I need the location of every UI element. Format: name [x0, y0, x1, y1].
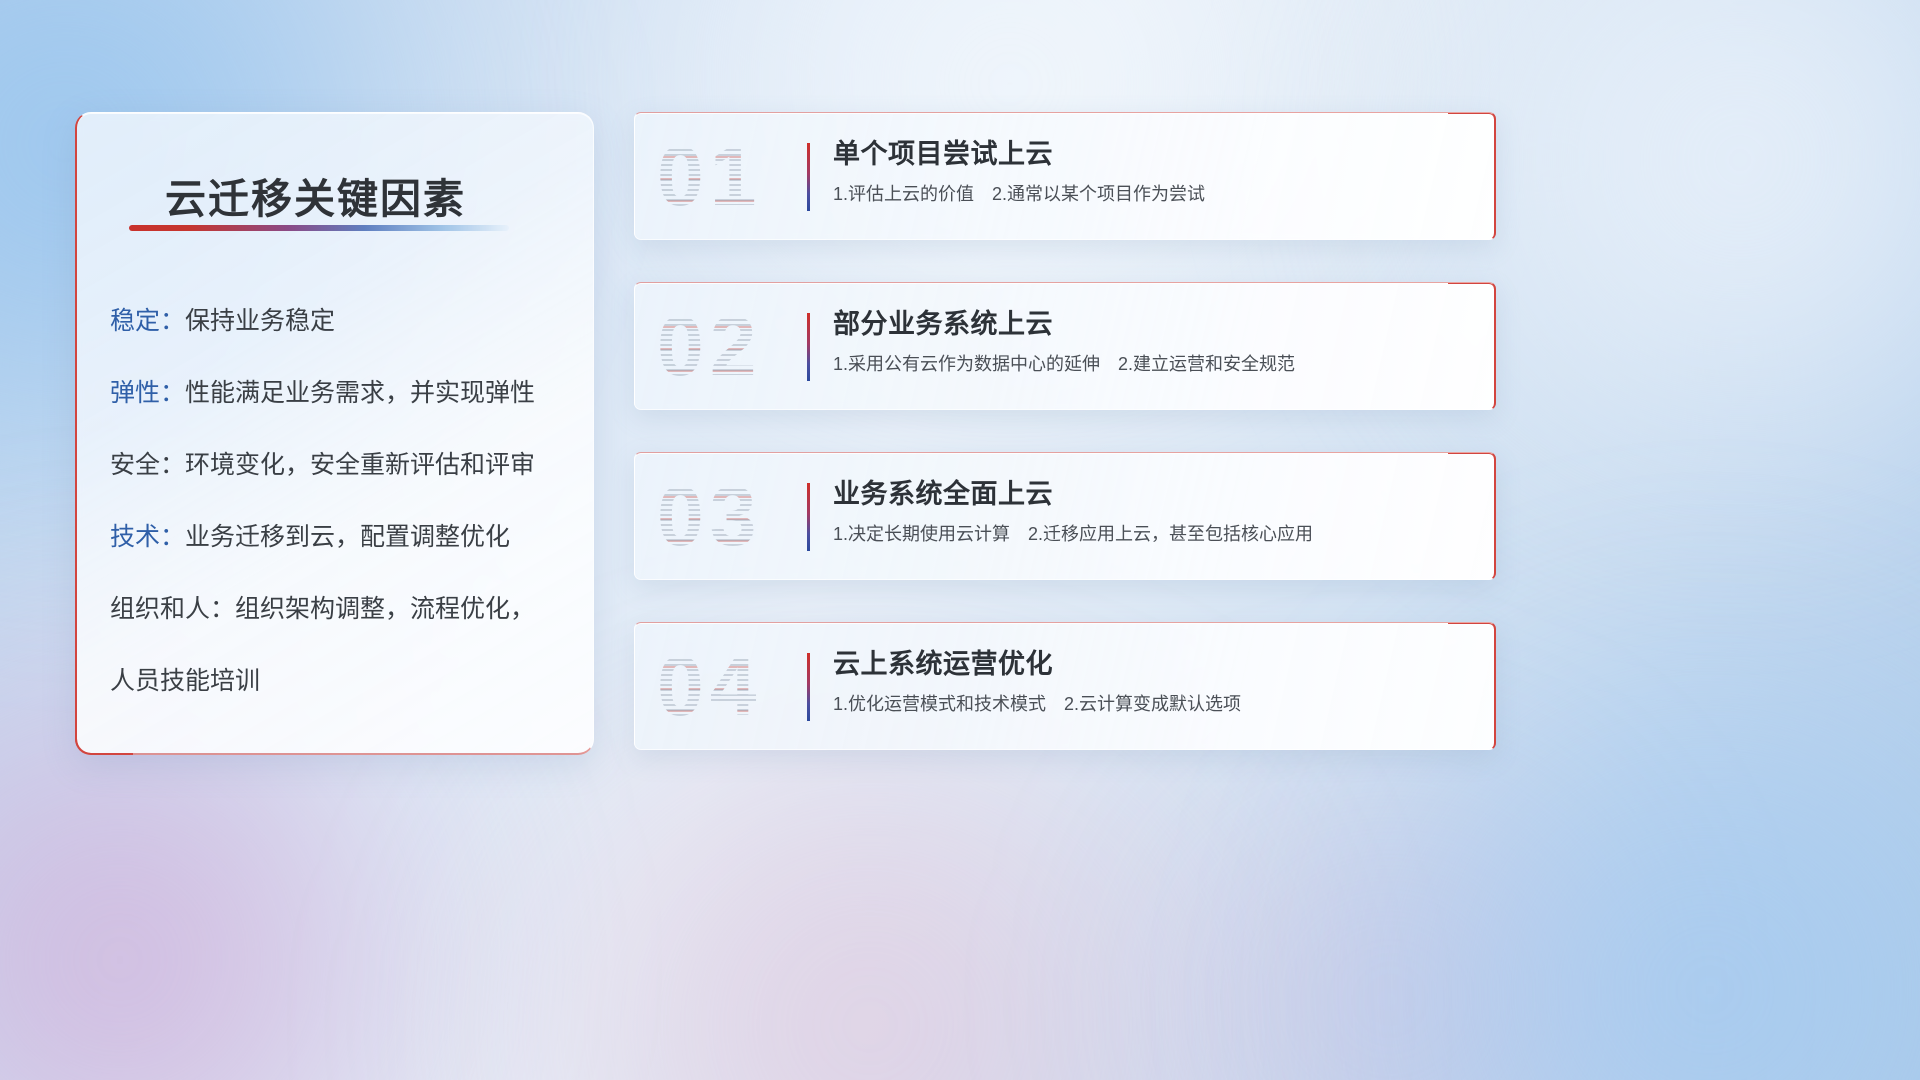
stage-card-01[interactable]: 01 01 单个项目尝试上云 1.评估上云的价值 2.通常以某个项目作为尝试: [634, 112, 1496, 240]
factor-text: 环境变化，安全重新评估和评审: [185, 453, 535, 478]
stage-title: 单个项目尝试上云: [833, 139, 1476, 171]
migration-stages-list: 01 01 单个项目尝试上云 1.评估上云的价值 2.通常以某个项目作为尝试 0…: [634, 112, 1496, 750]
stage-number-ghost: 02: [657, 304, 762, 388]
list-item: 弹性： 性能满足业务需求，并实现弹性: [110, 381, 573, 406]
list-item: 技术： 业务迁移到云，配置调整优化: [110, 525, 573, 550]
stage-description: 1.决定长期使用云计算 2.迁移应用上云，甚至包括核心应用: [833, 523, 1476, 546]
factor-label: 稳定：: [110, 309, 185, 334]
stage-number-ghost: 04: [657, 644, 762, 728]
key-factors-list: 稳定： 保持业务稳定 弹性： 性能满足业务需求，并实现弹性 安全： 环境变化，安…: [110, 309, 573, 694]
factor-label: 组织和人：: [110, 597, 235, 622]
list-item: 稳定： 保持业务稳定: [110, 309, 573, 334]
stage-card-04[interactable]: 04 04 云上系统运营优化 1.优化运营模式和技术模式 2.云计算变成默认选项: [634, 622, 1496, 750]
stage-title: 部分业务系统上云: [833, 309, 1476, 341]
stage-number-ghost: 03: [657, 474, 762, 558]
list-item-continuation: 人员技能培训: [110, 669, 573, 694]
list-item: 安全： 环境变化，安全重新评估和评审: [110, 453, 573, 478]
key-factors-panel: 云迁移关键因素 稳定： 保持业务稳定 弹性： 性能满足业务需求，并实现弹性 安全…: [75, 112, 594, 755]
factor-text: 性能满足业务需求，并实现弹性: [185, 381, 535, 406]
list-item: 组织和人： 组织架构调整，流程优化，: [110, 597, 573, 622]
stage-card-body: 业务系统全面上云 1.决定长期使用云计算 2.迁移应用上云，甚至包括核心应用: [833, 479, 1476, 546]
stage-card-body: 云上系统运营优化 1.优化运营模式和技术模式 2.云计算变成默认选项: [833, 649, 1476, 716]
stage-description: 1.优化运营模式和技术模式 2.云计算变成默认选项: [833, 693, 1476, 716]
stage-description: 1.评估上云的价值 2.通常以某个项目作为尝试: [833, 183, 1476, 206]
stage-title: 业务系统全面上云: [833, 479, 1476, 511]
stage-title: 云上系统运营优化: [833, 649, 1476, 681]
accent-bar-icon: [807, 313, 810, 381]
stage-card-03[interactable]: 03 03 业务系统全面上云 1.决定长期使用云计算 2.迁移应用上云，甚至包括…: [634, 452, 1496, 580]
title-underline-rule: [129, 225, 509, 231]
factor-text: 组织架构调整，流程优化，: [235, 597, 535, 622]
factor-label: 技术：: [110, 525, 185, 550]
accent-bar-icon: [807, 143, 810, 211]
accent-bar-icon: [807, 653, 810, 721]
slide-stage: 云迁移关键因素 稳定： 保持业务稳定 弹性： 性能满足业务需求，并实现弹性 安全…: [0, 0, 1920, 1080]
factor-text: 业务迁移到云，配置调整优化: [185, 525, 510, 550]
stage-card-02[interactable]: 02 02 部分业务系统上云 1.采用公有云作为数据中心的延伸 2.建立运营和安…: [634, 282, 1496, 410]
stage-card-body: 单个项目尝试上云 1.评估上云的价值 2.通常以某个项目作为尝试: [833, 139, 1476, 206]
page-title: 云迁移关键因素: [165, 165, 466, 225]
stage-number-ghost: 01: [657, 134, 762, 218]
stage-description: 1.采用公有云作为数据中心的延伸 2.建立运营和安全规范: [833, 353, 1476, 376]
factor-label: 安全：: [110, 453, 185, 478]
factor-text: 人员技能培训: [110, 669, 260, 694]
factor-text: 保持业务稳定: [185, 309, 335, 334]
stage-card-body: 部分业务系统上云 1.采用公有云作为数据中心的延伸 2.建立运营和安全规范: [833, 309, 1476, 376]
accent-bar-icon: [807, 483, 810, 551]
factor-label: 弹性：: [110, 381, 185, 406]
